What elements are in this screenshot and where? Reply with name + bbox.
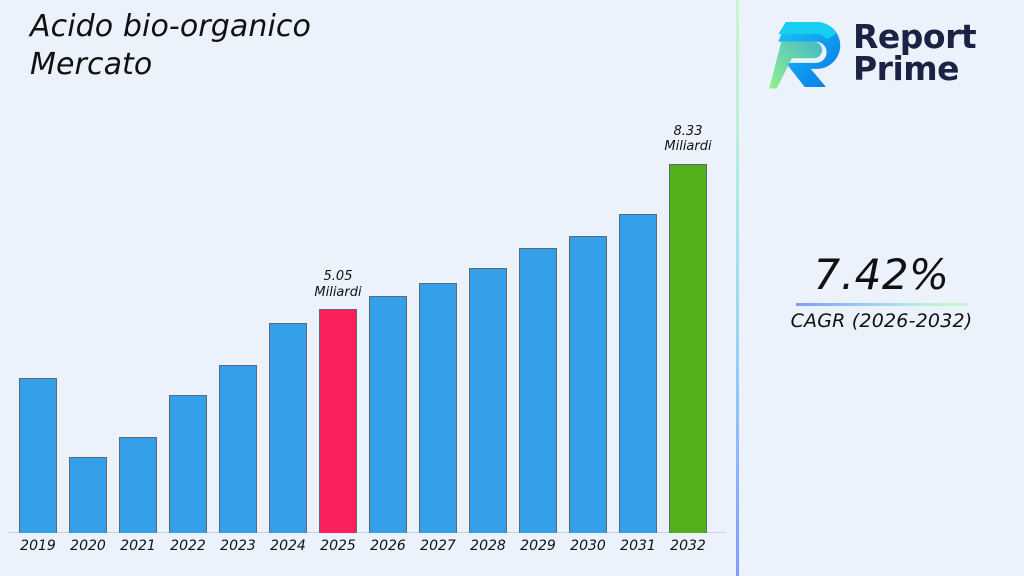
bar-value-label-2032: 8.33 Miliardi: [633, 124, 743, 155]
bar-2028: [469, 268, 507, 533]
cagr-divider: [796, 303, 968, 306]
bar-2026: [369, 296, 407, 533]
brand-name: Report Prime: [853, 21, 976, 85]
bar-2027: [419, 283, 457, 533]
chart-panel: Acido bio-organico Mercato 2019202020212…: [0, 0, 737, 576]
bar-2022: [169, 395, 207, 533]
bar-2032: [669, 164, 707, 533]
cagr-block: 7.42% CAGR (2026-2032): [739, 252, 1024, 332]
side-panel: Report Prime 7.42% CAGR (2026-2032): [739, 0, 1024, 576]
cagr-caption: CAGR (2026-2032): [739, 310, 1024, 332]
report-prime-logo-mark-icon: [769, 16, 845, 90]
bar-2019: [19, 378, 57, 533]
cagr-value: 7.42%: [739, 252, 1024, 298]
brand-name-line2: Prime: [853, 53, 976, 85]
brand-logo: Report Prime: [769, 14, 1001, 92]
bar-2023: [219, 365, 257, 533]
bar-2024: [269, 323, 307, 533]
bar-2025: [319, 309, 357, 533]
bar-2020: [69, 457, 107, 533]
x-tick-2032: 2032: [658, 538, 718, 554]
bar-2021: [119, 437, 157, 533]
bar-2031: [619, 214, 657, 533]
infographic-canvas: Acido bio-organico Mercato 2019202020212…: [0, 0, 1024, 576]
bar-2029: [519, 248, 557, 533]
bar-chart-plot-area: 2019202020212022202320245.05 Miliardi202…: [0, 0, 737, 576]
bar-2030: [569, 236, 607, 533]
